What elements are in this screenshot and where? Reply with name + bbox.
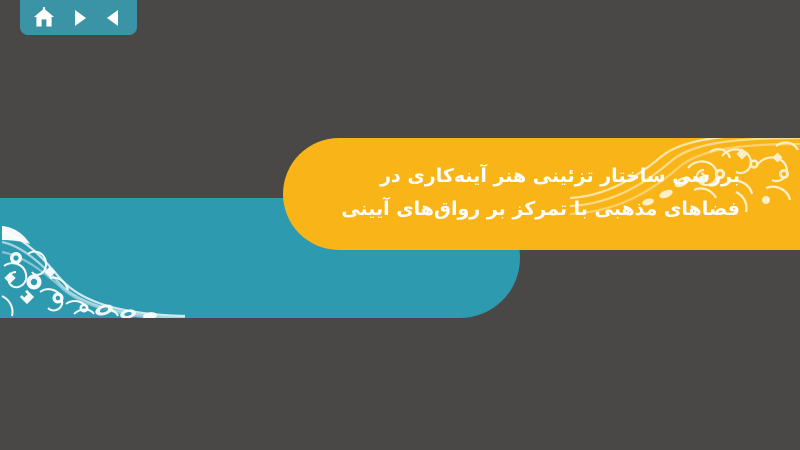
arabesque-corner-ornament	[0, 196, 185, 318]
slide-title: بررسی ساختار تزئینی هنر آینه‌کاری در فضا…	[320, 160, 740, 226]
presentation-slide: بررسی ساختار تزئینی هنر آینه‌کاری در فضا…	[0, 0, 800, 450]
home-icon	[33, 7, 55, 29]
title-line-1: بررسی ساختار تزئینی هنر آینه‌کاری در	[320, 160, 740, 193]
triangle-left-icon	[104, 8, 124, 28]
home-button[interactable]	[30, 5, 58, 31]
next-slide-button[interactable]	[65, 5, 93, 31]
previous-slide-button[interactable]	[100, 5, 128, 31]
triangle-right-icon	[69, 8, 89, 28]
title-line-2: فضاهای مذهبی با تمرکز بر رواق‌های آیینی	[320, 193, 740, 226]
navigation-toolbar	[20, 0, 137, 35]
